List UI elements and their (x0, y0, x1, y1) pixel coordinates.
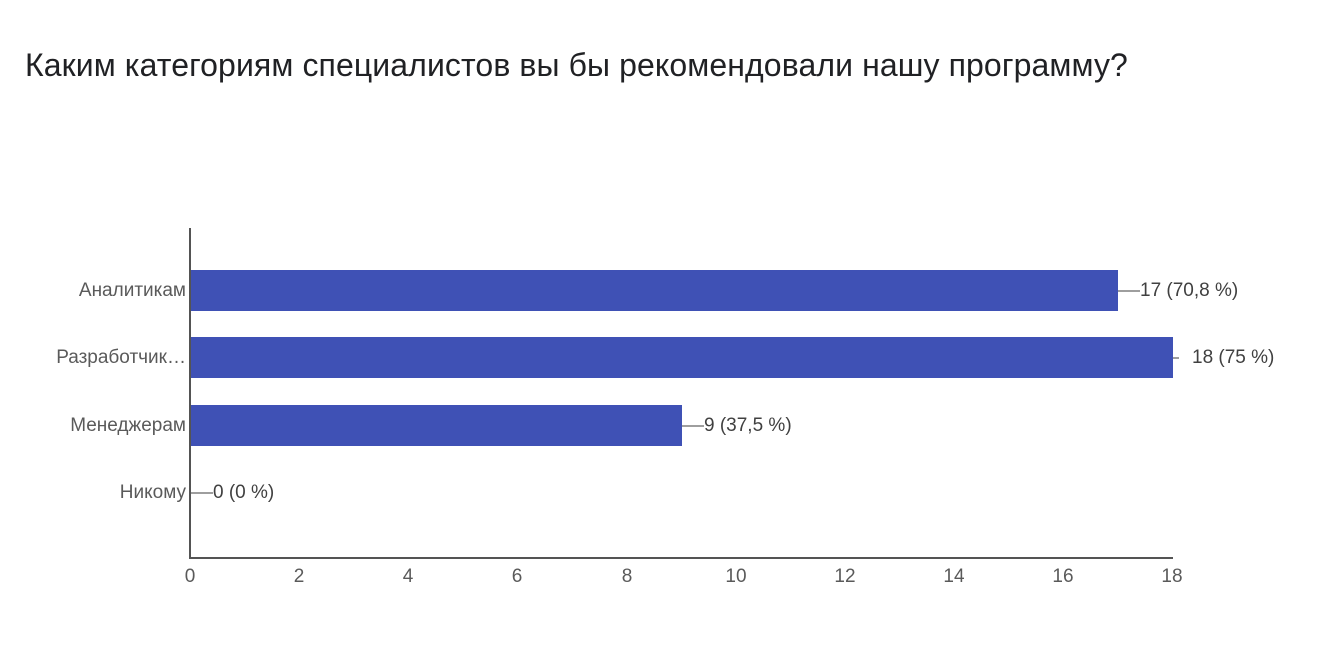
bar-value-label: 17 (70,8 %) (1140, 280, 1238, 302)
bar-rect[interactable] (191, 337, 1173, 378)
bar-rect[interactable] (191, 270, 1118, 311)
x-tick-label: 0 (185, 566, 196, 588)
x-tick-label: 2 (294, 566, 305, 588)
bar-rect[interactable] (191, 405, 682, 446)
bar-row: Разработчик… 18 (75 %) (0, 337, 1339, 378)
bar-leader-line (1118, 290, 1140, 292)
bar-category-label: Никому (120, 482, 186, 504)
x-tick-label: 16 (1052, 566, 1073, 588)
bar-value-label: 9 (37,5 %) (704, 415, 792, 437)
bar-category-label: Разработчик… (56, 347, 186, 369)
x-tick-label: 14 (943, 566, 964, 588)
x-tick-label: 18 (1161, 566, 1182, 588)
x-tick-label: 6 (512, 566, 523, 588)
bar-value-label: 18 (75 %) (1192, 347, 1274, 369)
bar-leader-line (682, 425, 704, 427)
bar-category-label: Менеджерам (70, 415, 186, 437)
x-tick-label: 10 (725, 566, 746, 588)
bar-category-label: Аналитикам (79, 280, 186, 302)
x-tick-label: 12 (834, 566, 855, 588)
bar-row: Аналитикам 17 (70,8 %) (0, 270, 1339, 311)
bar-chart: Аналитикам 17 (70,8 %) Разработчик… 18 (… (0, 0, 1339, 663)
x-tick-label: 4 (403, 566, 414, 588)
bar-leader-line (1173, 357, 1179, 359)
bar-value-label: 0 (0 %) (213, 482, 274, 504)
x-axis-line (189, 557, 1173, 559)
bar-row: Менеджерам 9 (37,5 %) (0, 405, 1339, 446)
x-tick-label: 8 (622, 566, 633, 588)
bar-row: Никому 0 (0 %) (0, 472, 1339, 513)
bar-leader-line (191, 492, 213, 494)
